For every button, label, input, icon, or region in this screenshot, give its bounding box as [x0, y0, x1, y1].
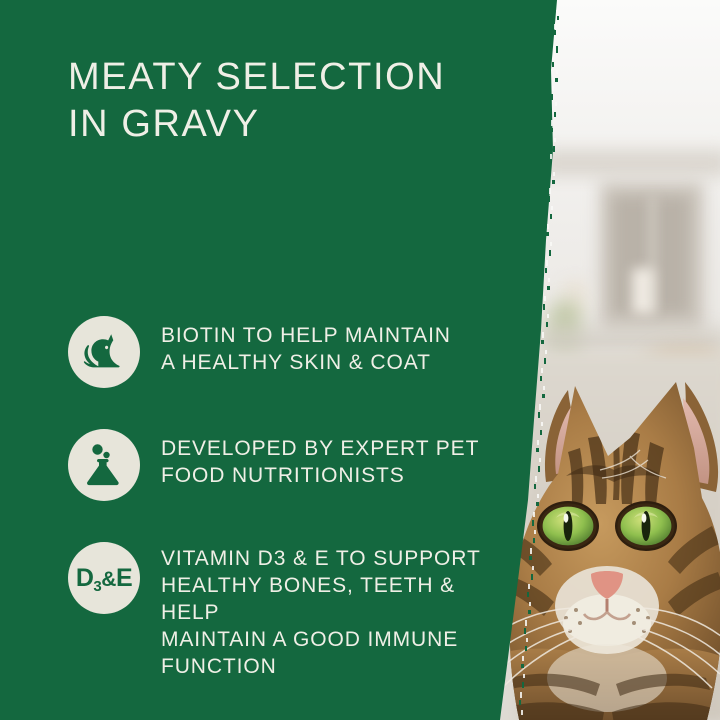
cat-silhouette-icon: [68, 316, 140, 388]
feature-item-vitamins: D3&E VITAMIN D3 & E TO SUPPORT HEALTHY B…: [68, 542, 520, 680]
product-feature-panel: MEATY SELECTION IN GRAVY BIOTIN TO HELP …: [0, 0, 720, 720]
vitamin-ampersand: &: [101, 569, 116, 590]
feature-item-nutritionists: DEVELOPED BY EXPERT PET FOOD NUTRITIONIS…: [68, 429, 479, 501]
vitamin-letter-d: D: [76, 566, 94, 591]
kitchen-jar: [632, 268, 654, 314]
vitamin-letter-e: E: [116, 566, 132, 591]
kitchen-counter: [540, 330, 720, 352]
feature-text-nutritionists: DEVELOPED BY EXPERT PET FOOD NUTRITIONIS…: [161, 429, 479, 489]
lab-flask-icon: [68, 429, 140, 501]
vitamin-subscript-3: 3: [93, 579, 101, 594]
vitamin-d3-e-label: D3&E: [76, 566, 132, 591]
vitamin-d3-e-icon: D3&E: [68, 542, 140, 614]
feature-item-biotin: BIOTIN TO HELP MAINTAIN A HEALTHY SKIN &…: [68, 316, 451, 388]
kitchen-wall-band: [540, 150, 720, 176]
page-title: MEATY SELECTION IN GRAVY: [68, 54, 498, 148]
feature-text-biotin: BIOTIN TO HELP MAINTAIN A HEALTHY SKIN &…: [161, 316, 451, 376]
feature-text-vitamins: VITAMIN D3 & E TO SUPPORT HEALTHY BONES,…: [161, 542, 520, 680]
